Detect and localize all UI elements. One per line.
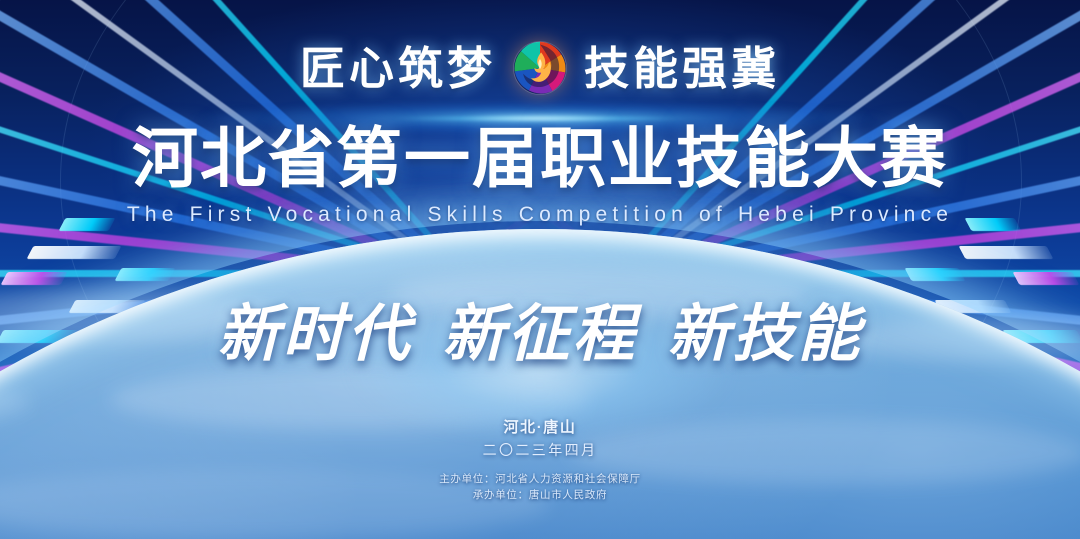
venue-label: 河北·唐山 xyxy=(0,416,1080,437)
undertaker-line: 承办单位：唐山市人民政府 xyxy=(0,487,1080,503)
top-slogan-row: 匠心筑梦 xyxy=(0,40,1080,96)
organizer-line: 主办单位：河北省人力资源和社会保障厅 xyxy=(0,471,1080,487)
page-subtitle-english: The First Vocational Skills Competition … xyxy=(0,203,1080,227)
slogan-right: 技能强冀 xyxy=(584,46,780,91)
theme-calligraphy: 新时代新征程新技能 xyxy=(0,283,1080,373)
calligraphy-phrase-2: 新征程 xyxy=(442,297,637,370)
calligraphy-phrase-1: 新时代 xyxy=(217,297,412,370)
date-label: 二〇二三年四月 xyxy=(0,440,1080,460)
competition-poster: 匠心筑梦 xyxy=(0,0,1080,539)
page-title: 河北省第一届职业技能大赛 xyxy=(0,123,1080,194)
organizer-block: 主办单位：河北省人力资源和社会保障厅 承办单位：唐山市人民政府 xyxy=(0,471,1080,504)
calligraphy-phrase-3: 新技能 xyxy=(668,297,863,370)
slogan-left: 匠心筑梦 xyxy=(300,46,496,91)
vocational-skills-competition-emblem xyxy=(512,40,568,96)
